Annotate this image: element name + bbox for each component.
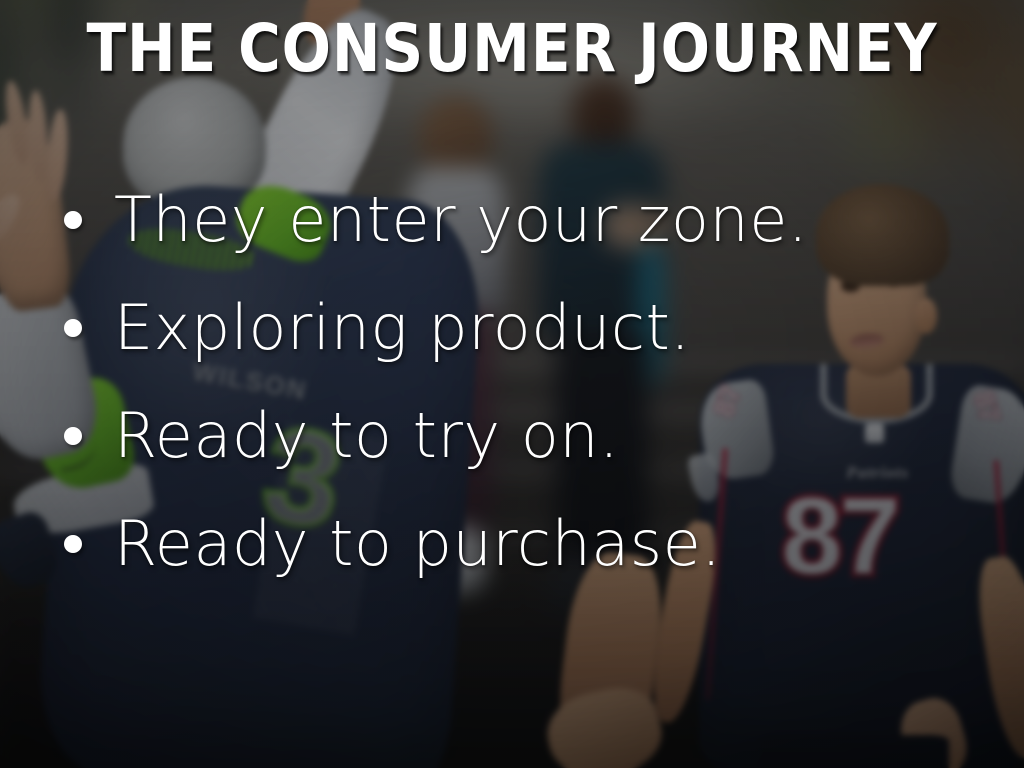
presentation-slide: WILSON 3 87 87 P xyxy=(0,0,1024,768)
slide-title: THE CONSUMER JOURNEY xyxy=(61,16,962,82)
bullet-dot-icon xyxy=(64,427,82,445)
bullet-text: They enter your zone. xyxy=(114,188,808,251)
list-item: Ready to purchase. xyxy=(64,490,808,598)
bullet-dot-icon xyxy=(64,211,82,229)
bullet-text: Exploring product. xyxy=(114,296,690,359)
bullet-list: They enter your zone. Exploring product.… xyxy=(64,166,808,598)
list-item: Ready to try on. xyxy=(64,382,808,490)
bullet-text: Ready to purchase. xyxy=(114,512,721,575)
slide-content: THE CONSUMER JOURNEY They enter your zon… xyxy=(0,0,1024,768)
list-item: They enter your zone. xyxy=(64,166,808,274)
list-item: Exploring product. xyxy=(64,274,808,382)
bullet-dot-icon xyxy=(64,535,82,553)
bullet-text: Ready to try on. xyxy=(114,404,619,467)
bullet-dot-icon xyxy=(64,319,82,337)
